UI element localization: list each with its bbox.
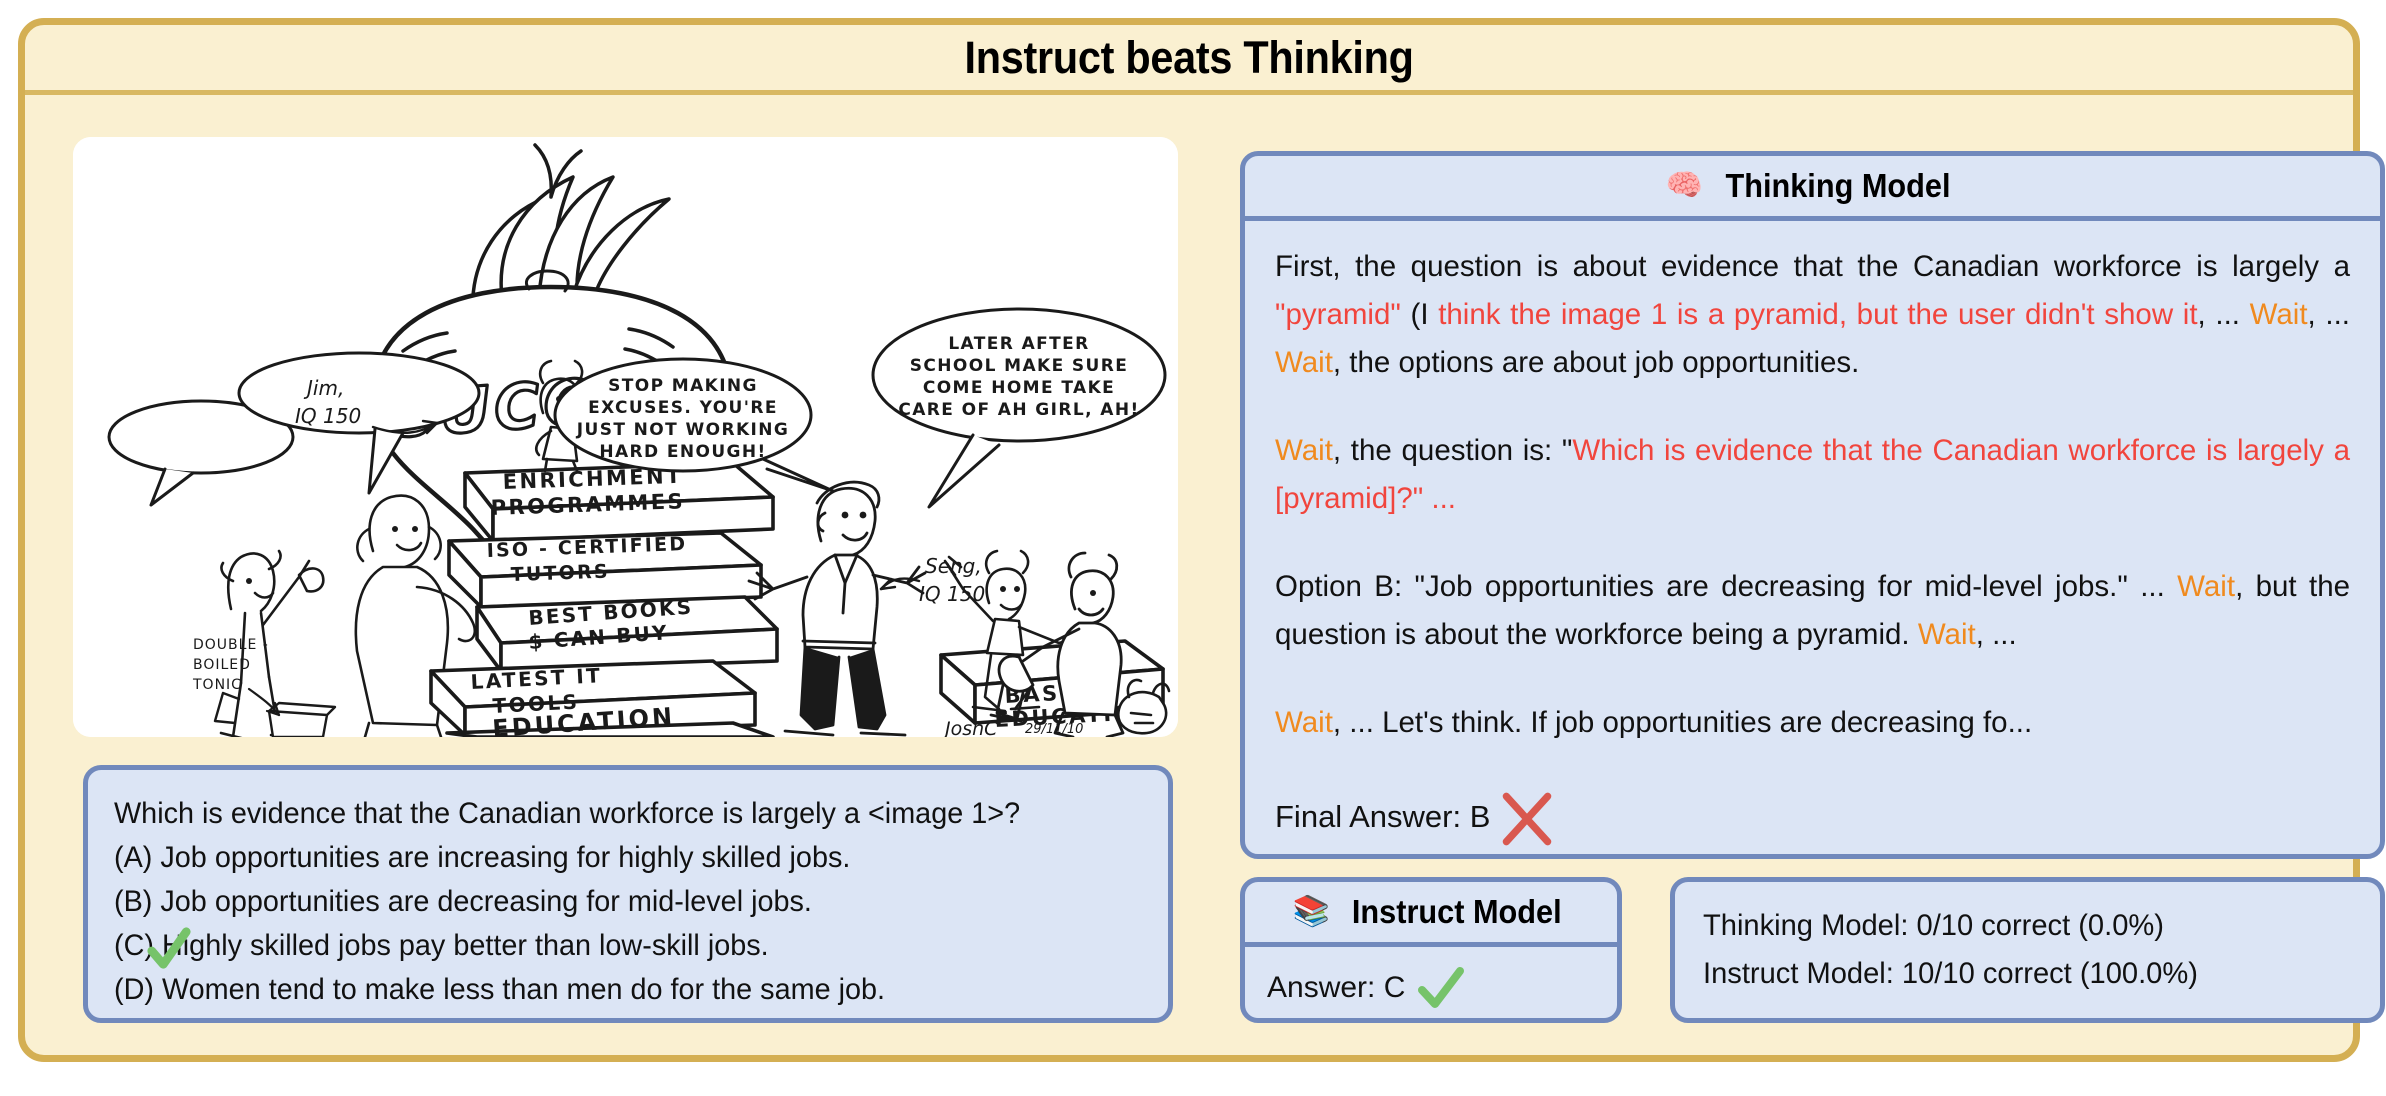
reasoning-paragraph: Option B: "Job opportunities are decreas… <box>1275 563 2350 659</box>
svg-text:EXCUSES. YOU'RE: EXCUSES. YOU'RE <box>588 398 778 418</box>
instruct-answer: Answer: C <box>1267 971 1405 1005</box>
brain-icon: 🧠 <box>1666 171 1703 201</box>
cartoon-image: SUCCESS <box>73 137 1178 737</box>
thinking-model-title: Thinking Model <box>1726 167 1951 205</box>
svg-text:STOP MAKING: STOP MAKING <box>608 376 758 396</box>
svg-text:Jim,: Jim, <box>303 376 344 400</box>
page-title-bar: Instruct beats Thinking <box>25 25 2353 95</box>
reasoning-paragraph: Wait, the question is: "Which is evidenc… <box>1275 427 2350 523</box>
svg-text:COME HOME TAKE: COME HOME TAKE <box>923 378 1115 398</box>
svg-text:DOUBLE -: DOUBLE - <box>193 637 269 653</box>
svg-text:IQ 150: IQ 150 <box>919 582 985 606</box>
page-title: Instruct beats Thinking <box>964 32 1413 84</box>
books-icon: 📚 <box>1293 897 1330 927</box>
question-stem: Which is evidence that the Canadian work… <box>114 792 1101 836</box>
svg-text:SCHOOL MAKE SURE: SCHOOL MAKE SURE <box>910 356 1129 376</box>
thinking-model-panel: 🧠 Thinking Model First, the question is … <box>1240 151 2385 859</box>
svg-text:29/11/10: 29/11/10 <box>1025 722 1083 737</box>
svg-text:Seng,: Seng, <box>925 554 982 578</box>
red-cross-icon <box>1496 788 1558 850</box>
svg-text:HARD ENOUGH!: HARD ENOUGH! <box>599 442 766 462</box>
thinking-model-body: First, the question is about evidence th… <box>1245 221 2380 747</box>
thinking-final-answer: Final Answer: B <box>1275 799 1490 835</box>
instruct-model-panel: 📚 Instruct Model Answer: C <box>1240 877 1622 1023</box>
question-option-d[interactable]: (D) Women tend to make less than men do … <box>114 968 1101 1012</box>
question-option-a[interactable]: (A) Job opportunities are increasing for… <box>114 836 1101 880</box>
svg-text:IQ 150: IQ 150 <box>295 404 361 428</box>
thinking-model-header: 🧠 Thinking Model <box>1245 156 2380 221</box>
poster-frame: Instruct beats Thinking <box>18 18 2360 1062</box>
instruct-accuracy-line: Instruct Model: 10/10 correct (100.0%) <box>1703 950 2360 998</box>
svg-text:TONIC: TONIC <box>192 677 242 693</box>
question-option-b[interactable]: (B) Job opportunities are decreasing for… <box>114 880 1101 924</box>
reasoning-paragraph: Wait, ... Let's think. If job opportunit… <box>1275 699 2350 747</box>
reasoning-paragraph: First, the question is about evidence th… <box>1275 243 2350 387</box>
question-option-c-wrap: (C) Highly skilled jobs pay better than … <box>114 924 1142 968</box>
instruct-model-body: Answer: C <box>1245 947 1617 1028</box>
thinking-final-answer-row: Final Answer: B <box>1275 788 1558 846</box>
question-option-c[interactable]: (C) Highly skilled jobs pay better than … <box>114 924 1101 968</box>
thinking-accuracy-line: Thinking Model: 0/10 correct (0.0%) <box>1703 902 2360 950</box>
accuracy-summary-panel: Thinking Model: 0/10 correct (0.0%) Inst… <box>1670 877 2385 1023</box>
svg-text:CARE OF AH GIRL, AH!: CARE OF AH GIRL, AH! <box>898 400 1139 420</box>
green-check-icon <box>1415 962 1467 1014</box>
instruct-model-header: 📚 Instruct Model <box>1245 882 1617 947</box>
question-panel: Which is evidence that the Canadian work… <box>83 765 1173 1023</box>
svg-text:JUST NOT WORKING: JUST NOT WORKING <box>576 420 789 440</box>
svg-text:LATER AFTER: LATER AFTER <box>948 334 1089 354</box>
svg-text:BOILED: BOILED <box>193 657 251 673</box>
instruct-model-title: Instruct Model <box>1352 893 1562 931</box>
svg-text:JoshC: JoshC <box>941 718 998 737</box>
svg-text:TUTORS: TUTORS <box>510 561 610 586</box>
